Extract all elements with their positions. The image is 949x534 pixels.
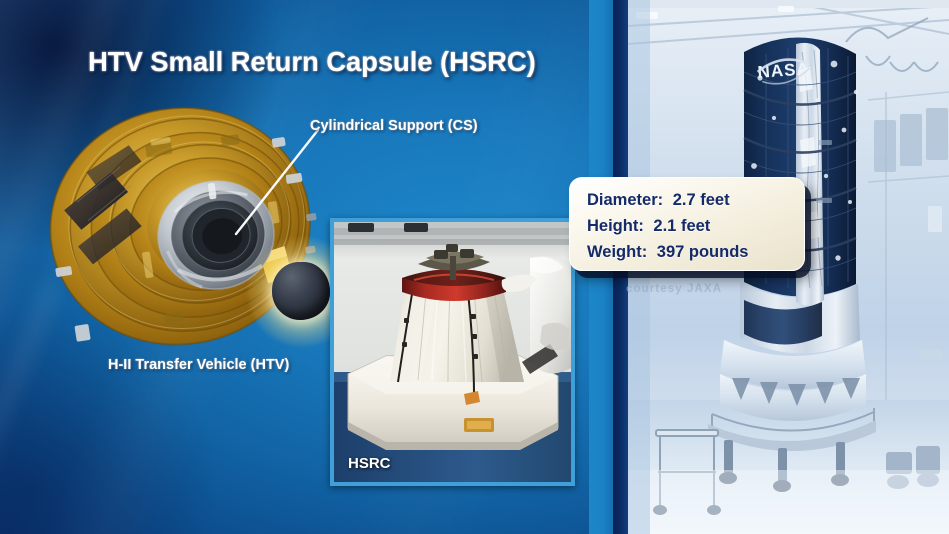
spec-row-weight: Weight: 397 pounds xyxy=(587,239,804,265)
spec-value-height: 2.1 feet xyxy=(653,217,710,235)
page-title: HTV Small Return Capsule (HSRC) xyxy=(88,46,608,78)
specifications-callout: Diameter: 2.7 feet Height: 2.1 feet Weig… xyxy=(569,177,805,271)
slide-canvas: HSRC Cylindrical Support (CS) H-II Trans… xyxy=(0,0,949,534)
spec-label-weight: Weight: xyxy=(587,243,647,261)
spec-row-diameter: Diameter: 2.7 feet xyxy=(587,187,804,213)
hsrc-inset-photo: HSRC xyxy=(330,218,575,486)
spec-value-weight: 397 pounds xyxy=(657,243,749,261)
transfer-vehicle-label: H-II Transfer Vehicle (HTV) xyxy=(108,357,289,373)
return-capsule-graphic xyxy=(272,262,330,320)
photo-credit: courtesy JAXA xyxy=(626,283,722,295)
hsrc-inset-label: HSRC xyxy=(348,455,391,472)
spec-label-diameter: Diameter: xyxy=(587,191,663,209)
hsrc-photo-image xyxy=(334,222,571,482)
spec-value-diameter: 2.7 feet xyxy=(673,191,730,209)
left-graphic-panel: HSRC Cylindrical Support (CS) H-II Trans… xyxy=(0,0,614,534)
callout-leader-line xyxy=(232,126,322,238)
spec-label-height: Height: xyxy=(587,217,644,235)
cylindrical-support-label: Cylindrical Support (CS) xyxy=(310,118,478,134)
spec-row-height: Height: 2.1 feet xyxy=(587,213,804,239)
